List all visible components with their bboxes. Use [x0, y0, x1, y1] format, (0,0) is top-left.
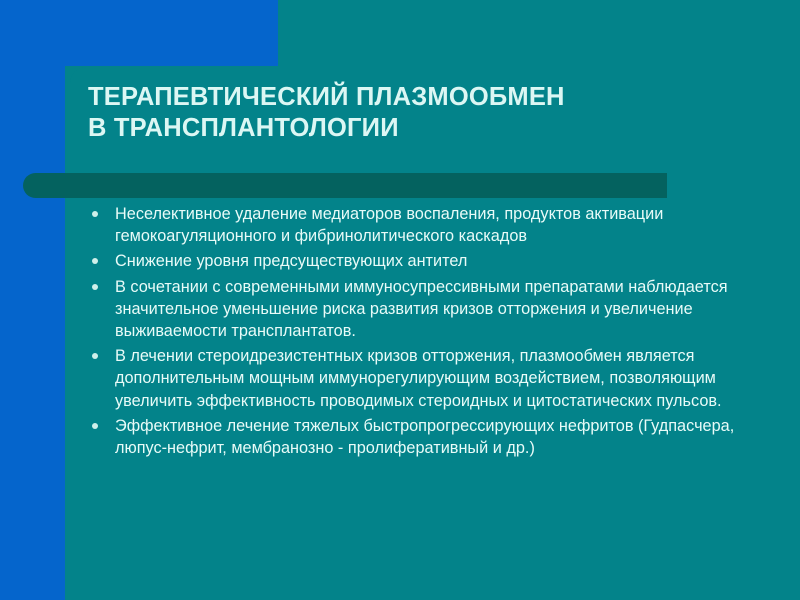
list-item-text: В сочетании с современными иммуносупресс…: [115, 276, 760, 343]
slide-title: ТЕРАПЕВТИЧЕСКИЙ ПЛАЗМООБМЕН В ТРАНСПЛАНТ…: [88, 82, 768, 144]
list-item-text: Снижение уровня предсуществующих антител: [115, 250, 760, 272]
bullet-dot-icon: [92, 423, 98, 429]
list-item: В лечении стероидрезистентных кризов отт…: [88, 345, 760, 412]
bullet-dot-icon: [92, 211, 98, 217]
list-item: Эффективное лечение тяжелых быстропрогре…: [88, 415, 760, 459]
slide-title-line-2: В ТРАНСПЛАНТОЛОГИИ: [88, 113, 768, 144]
title-underline-rule: [23, 173, 667, 198]
list-item: Неселективное удаление медиаторов воспал…: [88, 203, 760, 247]
bullet-dot-icon: [92, 284, 98, 290]
list-item-text: Эффективное лечение тяжелых быстропрогре…: [115, 415, 760, 459]
slide-title-line-1: ТЕРАПЕВТИЧЕСКИЙ ПЛАЗМООБМЕН: [88, 82, 768, 113]
list-item-text: Неселективное удаление медиаторов воспал…: [115, 203, 760, 247]
list-item: В сочетании с современными иммуносупресс…: [88, 276, 760, 343]
presentation-slide: ТЕРАПЕВТИЧЕСКИЙ ПЛАЗМООБМЕН В ТРАНСПЛАНТ…: [0, 0, 800, 600]
list-item-text: В лечении стероидрезистентных кризов отт…: [115, 345, 760, 412]
slide-bullet-list: Неселективное удаление медиаторов воспал…: [88, 203, 760, 462]
left-blue-band: [0, 0, 65, 600]
bullet-dot-icon: [92, 353, 98, 359]
top-blue-block: [0, 0, 278, 66]
bullet-dot-icon: [92, 258, 98, 264]
list-item: Снижение уровня предсуществующих антител: [88, 250, 760, 272]
